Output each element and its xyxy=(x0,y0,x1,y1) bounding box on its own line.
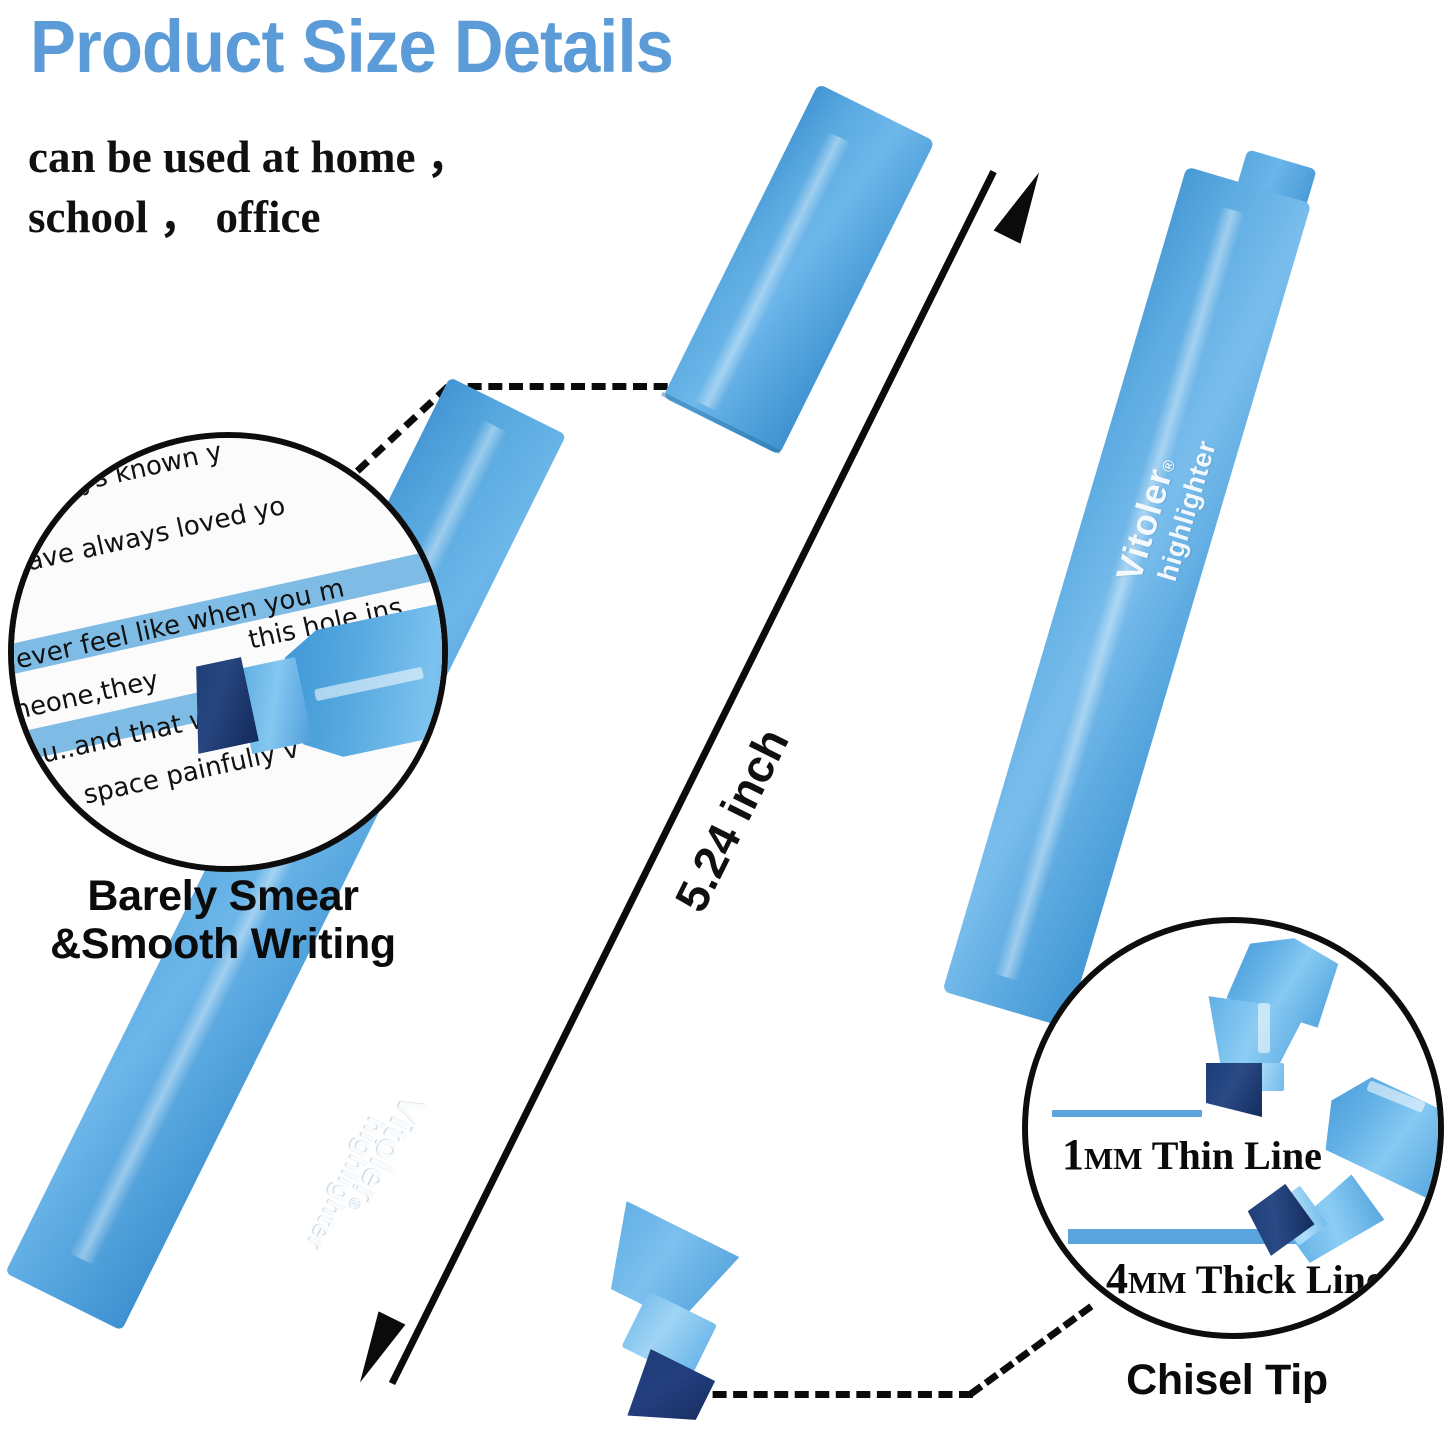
inset-chisel-caption: Chisel Tip xyxy=(1022,1356,1432,1404)
inset-smear-circle: always known y s have always loved yo u … xyxy=(8,432,448,872)
product-infographic: Product Size Details can be used at home… xyxy=(0,0,1445,1435)
page-title: Product Size Details xyxy=(30,4,673,89)
inset-mini-pen-upper-gloss xyxy=(1258,1003,1270,1053)
inset-chisel-circle: 1MM Thin Line 4MM Thick Line xyxy=(1022,917,1444,1339)
thin-line-label: 1MM Thin Line xyxy=(1062,1129,1322,1180)
caption-line-2: &Smooth Writing xyxy=(0,920,446,968)
pen-chisel-tip xyxy=(620,1349,716,1435)
thick-line-value: 4 xyxy=(1106,1254,1128,1303)
thick-line-text: Thick Line xyxy=(1187,1257,1384,1302)
thin-line-text: Thin Line xyxy=(1143,1133,1322,1178)
caption-line-1: Barely Smear xyxy=(0,872,446,920)
thick-line-label: 4MM Thick Line xyxy=(1106,1253,1384,1304)
inset-mini-pen-upper-chisel xyxy=(1206,1063,1262,1117)
pen-cap-main-gloss xyxy=(993,206,1245,980)
inset-smear-caption: Barely Smear &Smooth Writing xyxy=(0,872,446,968)
thin-line-value: 1 xyxy=(1062,1130,1084,1179)
thin-line-sample xyxy=(1052,1110,1202,1117)
thick-line-unit: MM xyxy=(1128,1265,1187,1300)
thin-line-unit: MM xyxy=(1084,1141,1143,1176)
